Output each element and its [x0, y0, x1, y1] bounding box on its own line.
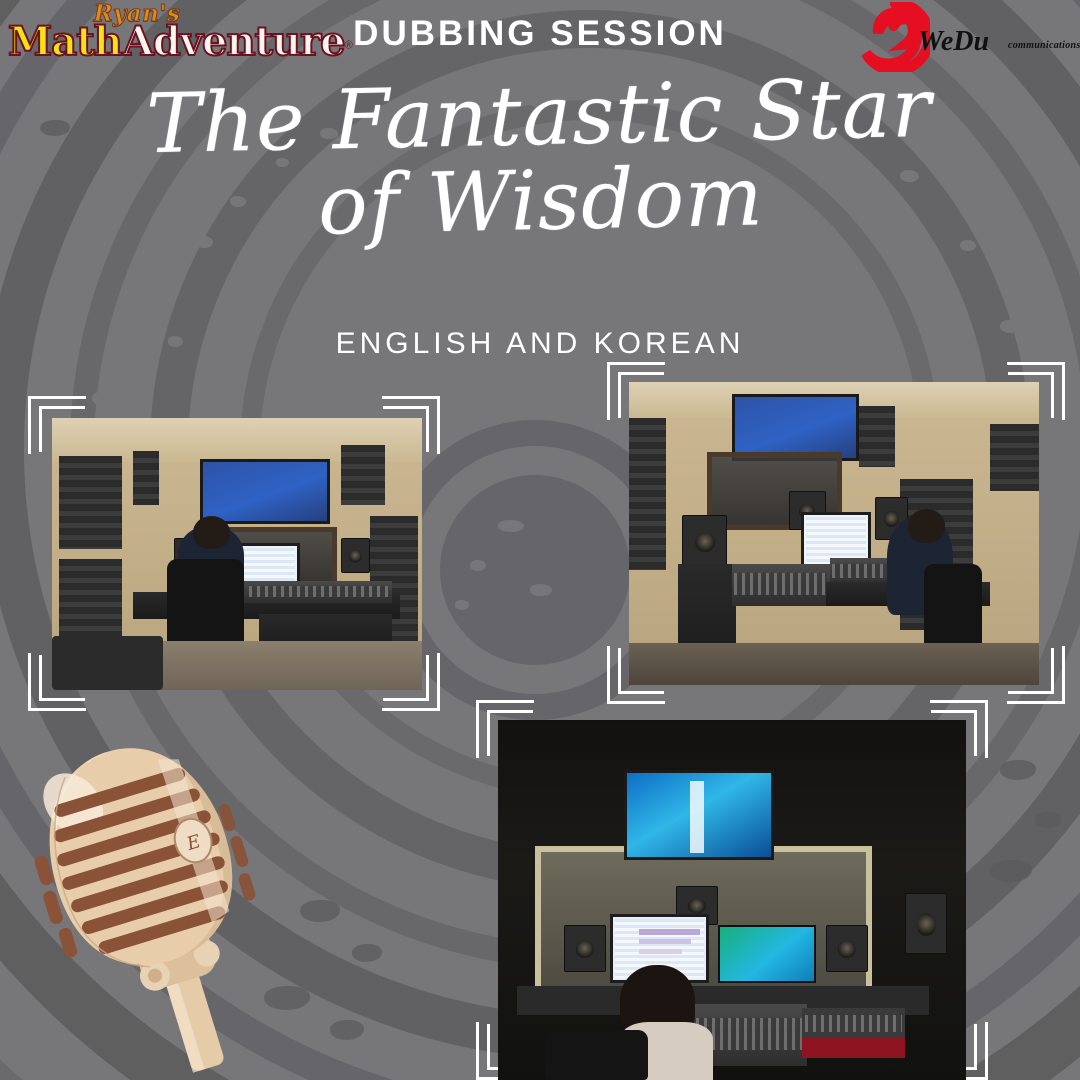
subtitle-languages: ENGLISH AND KOREAN [0, 327, 1080, 361]
kicker-dubbing-session: DUBBING SESSION [0, 14, 1080, 54]
photo-card-studio-voice-booth [476, 700, 988, 1080]
vintage-microphone-illustration: E [6, 738, 286, 1080]
photo-card-studio-engineer-right [607, 362, 1065, 704]
poster-title: The Fantastic Star of Wisdom [0, 67, 1080, 253]
photo-studio-engineer-left [52, 418, 422, 690]
grunge-ring-center-disc [440, 475, 630, 665]
vintage-microphone-icon: E [6, 738, 286, 1080]
poster-canvas: Ryan's MathAdventure® WeDu communication… [0, 0, 1080, 1080]
photo-card-studio-engineer-left [28, 396, 440, 711]
photo-studio-engineer-right [629, 382, 1039, 685]
photo-studio-voice-booth-bottom [498, 720, 966, 1080]
